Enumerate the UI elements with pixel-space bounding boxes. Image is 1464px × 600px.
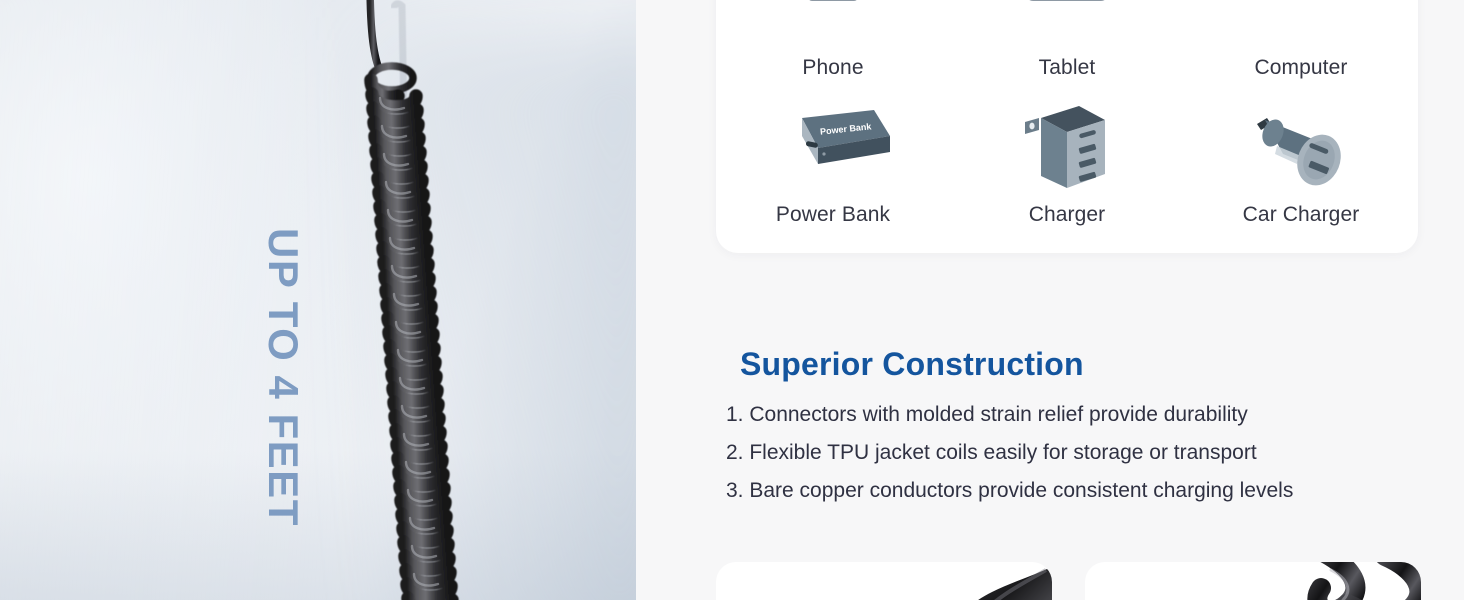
- section-heading: Superior Construction: [740, 348, 1426, 382]
- device-grid: Phone Tablet: [716, 0, 1418, 227]
- content-column: Phone Tablet: [636, 0, 1464, 600]
- phone-icon: [805, 0, 861, 47]
- tablet-icon: [1024, 0, 1110, 47]
- wall-charger-icon: [1017, 102, 1117, 194]
- hero-product-image-panel: UP TO 4 FEET: [0, 0, 636, 600]
- compatible-devices-card: Phone Tablet: [716, 0, 1418, 253]
- laptop-icon-wrap: Computer: [1184, 0, 1418, 80]
- construction-feature-list: 1. Connectors with molded strain relief …: [726, 396, 1426, 511]
- device-label: Computer: [1254, 56, 1347, 80]
- power-bank-icon: Power Bank: [766, 102, 900, 194]
- cable-coil-photo-card: [1085, 562, 1421, 600]
- device-label: Car Charger: [1243, 203, 1360, 227]
- cable-connector-photo-card: [716, 562, 1052, 600]
- car-charger-icon: [1241, 102, 1361, 194]
- device-label: Phone: [802, 56, 863, 80]
- device-label: Charger: [1029, 203, 1106, 227]
- list-item: 2. Flexible TPU jacket coils easily for …: [726, 434, 1426, 472]
- device-item-tablet: Tablet: [950, 0, 1184, 80]
- product-detail-page: UP TO 4 FEET Phone: [0, 0, 1464, 600]
- list-item: 3. Bare copper conductors provide consis…: [726, 472, 1426, 510]
- device-item-phone: Phone: [716, 0, 950, 80]
- coiled-cable-image: [300, 0, 600, 600]
- up-to-4-feet-label: UP TO 4 FEET: [262, 228, 304, 558]
- superior-construction-section: Superior Construction 1. Connectors with…: [726, 348, 1426, 510]
- list-item: 1. Connectors with molded strain relief …: [726, 396, 1426, 434]
- device-label: Power Bank: [776, 203, 890, 227]
- laptop-icon: [1221, 0, 1381, 47]
- device-item-power-bank: Power Bank Power Bank: [716, 102, 950, 227]
- device-item-charger: Charger: [950, 102, 1184, 227]
- device-item-car-charger: Car Charger: [1184, 102, 1418, 227]
- device-label: Tablet: [1039, 56, 1096, 80]
